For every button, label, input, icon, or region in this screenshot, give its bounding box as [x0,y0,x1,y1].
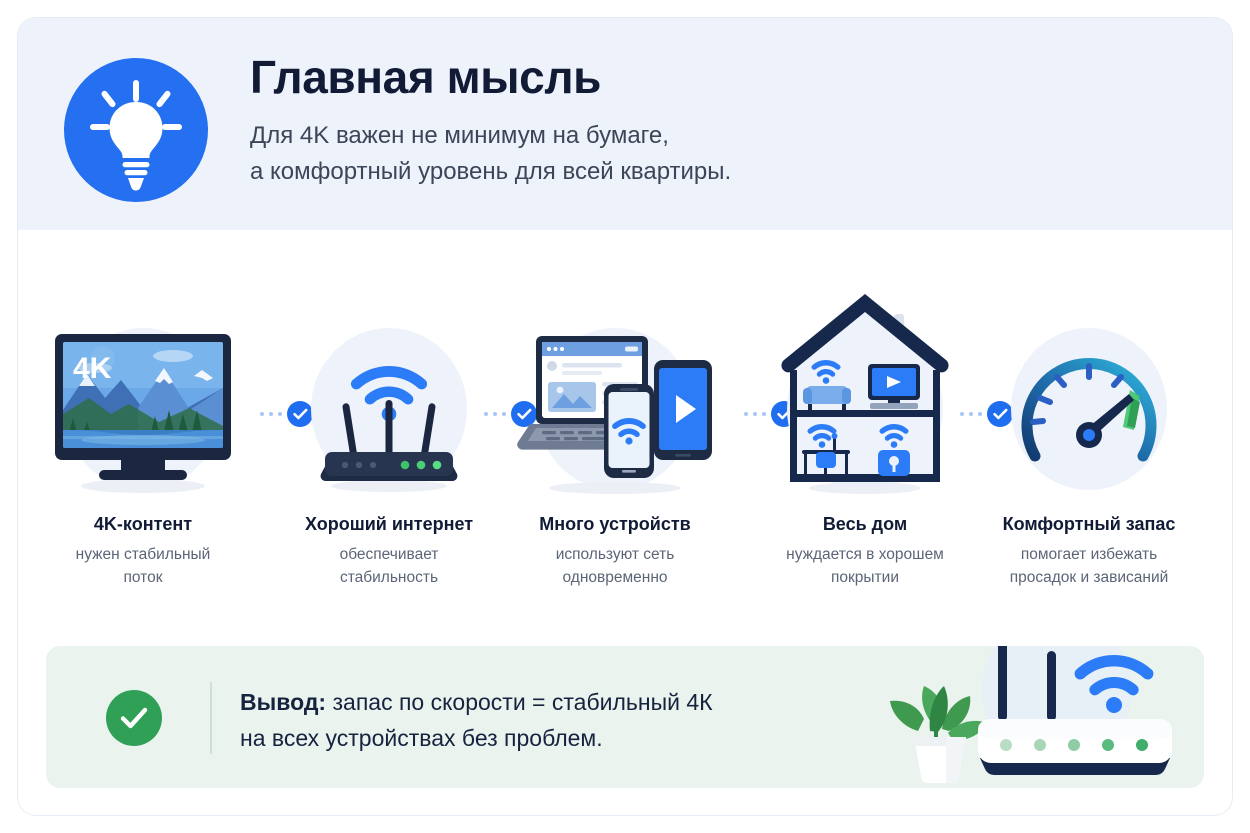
dot [744,412,748,416]
step-desc-line-2: стабильность [286,567,492,590]
step-desc-line-1: обеспечивает [286,544,492,567]
wifi-router-icon [286,270,492,498]
dot [502,412,506,416]
step-title: Комфортный запас [986,514,1192,535]
steps-strip: 4K 4K-контент нужен стабильный поток [18,230,1232,630]
infographic-page: Главная мысль Для 4K важен не минимум на… [0,0,1250,833]
page-title: Главная мысль [250,52,1180,104]
speedometer-icon [986,270,1192,498]
step-description: помогает избежать просадок и зависаний [986,544,1192,590]
step-desc-line-1: помогает избежать [986,544,1192,567]
tv-screen-label: 4K [73,352,112,385]
conclusion-line-2: на всех устройствах без проблем. [240,720,713,756]
step-title: 4K-контент [40,514,246,535]
step-title: Много устройств [512,514,718,535]
dot [278,412,282,416]
router [978,646,1172,775]
header-band: Главная мысль Для 4K важен не минимум на… [18,18,1232,230]
dotted-line-left [260,412,282,416]
multiple-devices-icon [512,270,718,498]
conclusion-line-1-rest: запас по скорости = стабильный 4К [326,689,712,715]
step-desc-line-1: нужен стабильный [40,544,246,567]
step-desc-line-2: поток [40,567,246,590]
dot [493,412,497,416]
house-coverage-icon [762,270,968,498]
conclusion-text: Вывод: запас по скорости = стабильный 4К… [240,684,713,757]
step-description: используют сеть одновременно [512,544,718,590]
step-good-internet: Хороший интернет обеспечивает стабильнос… [286,270,492,590]
subtitle-line-1: Для 4K важен не минимум на бумаге, [250,118,1180,154]
step-title: Весь дом [762,514,968,535]
step-desc-line-1: используют сеть [512,544,718,567]
step-desc-line-1: нуждается в хорошем [762,544,968,567]
step-comfort-margin: Комфортный запас помогает избежать проса… [986,270,1192,590]
step-many-devices: Много устройств используют сеть одноврем… [512,270,718,590]
plant [890,686,987,783]
conclusion-line-1: Вывод: запас по скорости = стабильный 4К [240,684,713,720]
step-whole-house: Весь дом нуждается в хорошем покрытии [762,270,968,590]
step-description: обеспечивает стабильность [286,544,492,590]
subtitle-line-2: а комфортный уровень для всей квартиры. [250,154,1180,190]
dot [269,412,273,416]
conclusion-banner: Вывод: запас по скорости = стабильный 4К… [46,646,1204,788]
step-desc-line-2: покрытии [762,567,968,590]
vertical-divider [210,682,212,754]
dot [753,412,757,416]
dot [260,412,264,416]
step-title: Хороший интернет [286,514,492,535]
dot [484,412,488,416]
step-description: нуждается в хорошем покрытии [762,544,968,590]
tv-4k-icon: 4K [40,270,246,498]
dotted-line-left [960,412,982,416]
conclusion-label: Вывод: [240,689,326,715]
infographic-card: Главная мысль Для 4K важен не минимум на… [18,18,1232,815]
page-subtitle: Для 4K важен не минимум на бумаге, а ком… [250,118,1180,191]
lightbulb-icon [64,58,208,202]
step-description: нужен стабильный поток [40,544,246,590]
step-desc-line-2: одновременно [512,567,718,590]
dotted-line-left [484,412,506,416]
check-circle-icon [106,690,162,746]
step-4k-content: 4K 4K-контент нужен стабильный поток [40,270,246,590]
header-text-block: Главная мысль Для 4K важен не минимум на… [250,52,1180,190]
step-desc-line-2: просадок и зависаний [986,567,1192,590]
white-router-with-plant-icon [858,646,1188,788]
dot [960,412,964,416]
dot [969,412,973,416]
dot [978,412,982,416]
